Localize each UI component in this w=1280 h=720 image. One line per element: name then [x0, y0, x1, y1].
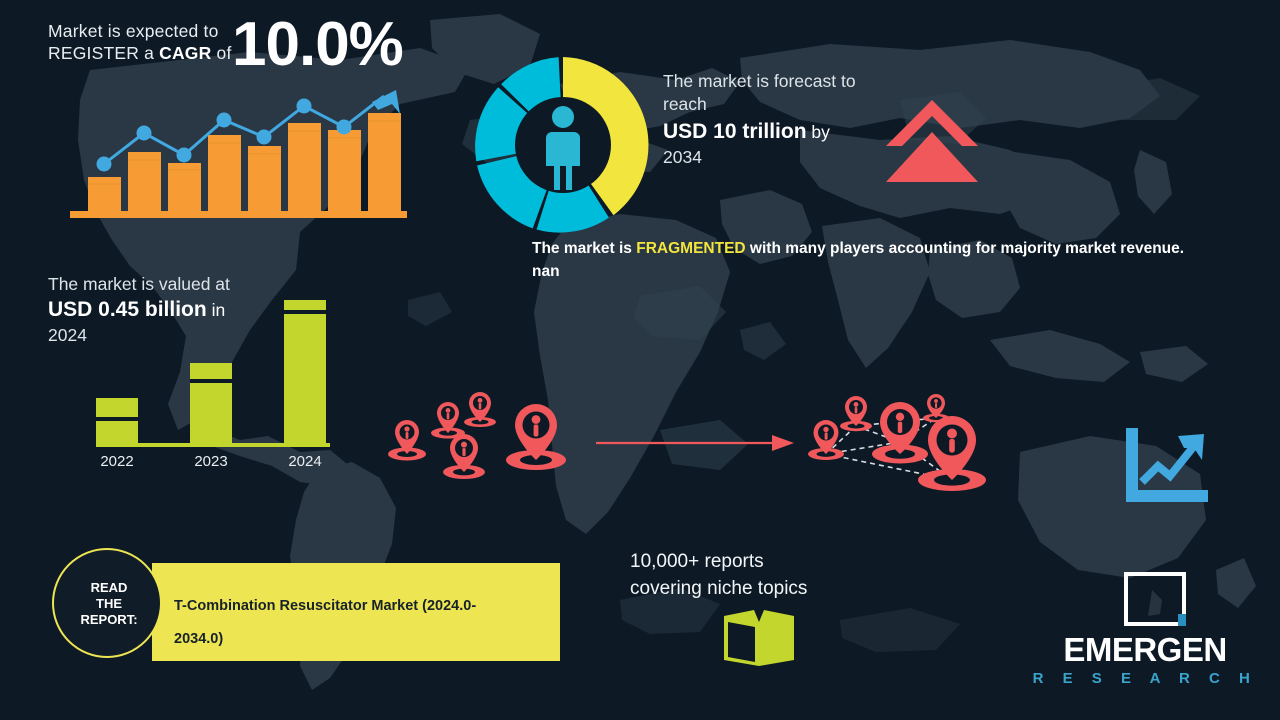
map-pin-person-icon: [872, 402, 928, 464]
emergen-research-logo[interactable]: EMERGEN R E S E A R C H: [1030, 570, 1260, 710]
fragmented-statement: The market is FRAGMENTED with many playe…: [532, 237, 1212, 283]
red-up-arrows-icon: [884, 98, 980, 184]
cagr-line2-post: of: [211, 43, 231, 63]
fragmented-keyword: FRAGMENTED: [636, 240, 745, 257]
read-the-report-label: READ THE REPORT:: [54, 580, 164, 628]
market-value-bar-chart: 2022 2023 2024: [82, 288, 334, 474]
map-pin-person-icon: [840, 396, 872, 431]
read-the-report-bar[interactable]: T-Combination Resuscitator Market (2024.…: [152, 563, 560, 661]
fragmented-pre: The market is: [532, 240, 636, 257]
forecast-year: 2034: [663, 146, 898, 168]
map-pin-network-right: [800, 388, 1020, 500]
bar-label-2023: 2023: [194, 453, 227, 470]
cagr-value: 10.0%: [232, 8, 403, 82]
cagr-caption: Market is expected to REGISTER a CAGR of: [48, 20, 253, 64]
forecast-caption: The market is forecast to reach USD 10 t…: [663, 70, 898, 168]
map-pin-person-icon: [464, 392, 496, 427]
logo-wordmark: EMERGEN: [1030, 632, 1260, 668]
reports-line1: 10,000+ reports: [630, 551, 764, 572]
map-pin-person-icon: [506, 404, 566, 470]
logo-subtitle: R E S E A R C H: [1030, 670, 1260, 688]
cagr-line1: Market is expected to: [48, 21, 219, 41]
reports-caption: 10,000+ reports covering niche topics: [630, 548, 807, 602]
bar-label-2024: 2024: [288, 453, 321, 470]
infographic-canvas: Market is expected to REGISTER a CAGR of…: [0, 0, 1280, 720]
open-book-icon: [720, 608, 798, 670]
square-bracket-logo-icon: [1122, 570, 1188, 628]
forecast-line1: The market is forecast to reach: [663, 71, 856, 114]
cta-line3: REPORT:: [80, 612, 137, 627]
map-pin-person-icon: [388, 420, 426, 461]
cta-line2: THE: [96, 596, 122, 611]
map-pin-person-icon: [443, 434, 485, 479]
right-arrow-icon: [596, 432, 796, 454]
report-title: T-Combination Resuscitator Market (2024.…: [174, 590, 514, 656]
forecast-value: USD 10 trillion: [663, 120, 807, 143]
line-chart-up-icon: [1122, 426, 1210, 506]
map-pin-person-icon: [431, 402, 465, 439]
map-pin-person-icon: [918, 416, 986, 491]
bar-label-2022: 2022: [100, 453, 133, 470]
cagr-line2-pre: REGISTER a: [48, 43, 159, 63]
forecast-connector: by: [807, 122, 830, 142]
read-the-report-badge[interactable]: READ THE REPORT:: [52, 548, 162, 658]
forecast-value-row: USD 10 trillion by: [663, 118, 898, 146]
cta-line1: READ: [91, 580, 128, 595]
market-share-donut: [470, 52, 656, 238]
cagr-keyword: CAGR: [159, 43, 211, 63]
map-pin-cluster-left: [380, 388, 580, 492]
cagr-growth-bar-chart: [66, 88, 411, 220]
reports-line2: covering niche topics: [630, 578, 807, 599]
map-pin-person-icon: [808, 420, 844, 460]
